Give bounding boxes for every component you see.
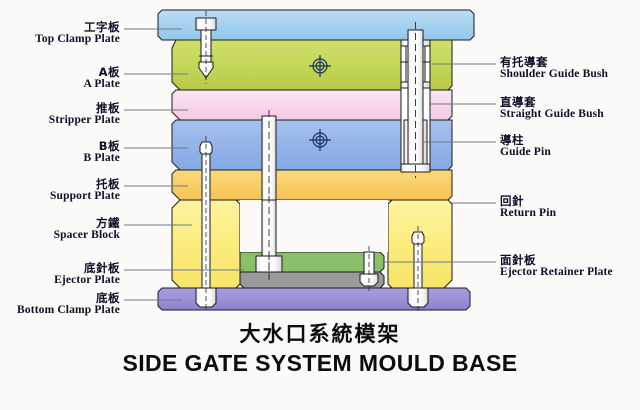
label-en: Top Clamp Plate [35, 33, 120, 45]
label-guide-pin: 導柱 Guide Pin [500, 134, 551, 159]
label-a-plate: A板 A Plate [84, 66, 121, 91]
plate-support-plate [172, 170, 452, 200]
label-cn: 工字板 [35, 21, 120, 33]
label-stripper-plate: 推板 Stripper Plate [49, 102, 120, 127]
label-cn: 底針板 [54, 262, 120, 274]
label-shoulder-guide-bush: 有托導套 Shoulder Guide Bush [500, 56, 608, 81]
label-cn: 面針板 [500, 254, 613, 266]
label-support-plate: 托板 Support Plate [50, 178, 120, 203]
label-cn: 直導套 [500, 96, 604, 108]
label-cn: 推板 [49, 102, 120, 114]
label-en: Bottom Clamp Plate [17, 304, 120, 316]
label-spacer-block: 方鐵 Spacer Block [54, 217, 120, 242]
diagram-page: 工字板 Top Clamp Plate A板 A Plate 推板 Stripp… [0, 0, 640, 410]
label-en: Spacer Block [54, 229, 120, 241]
label-straight-guide-bush: 直導套 Straight Guide Bush [500, 96, 604, 121]
label-cn: 有托導套 [500, 56, 608, 68]
label-en: Straight Guide Bush [500, 108, 604, 120]
label-cn: 托板 [50, 178, 120, 190]
title-chinese: 大水口系統模架 [0, 318, 640, 348]
label-cn: 導柱 [500, 134, 551, 146]
label-en: Stripper Plate [49, 114, 120, 126]
label-cn: 回針 [500, 195, 556, 207]
label-cn: 底板 [17, 292, 120, 304]
label-cn: 方鐵 [54, 217, 120, 229]
label-ejector-plate: 底針板 Ejector Plate [54, 262, 120, 287]
label-en: Ejector Retainer Plate [500, 266, 613, 278]
label-en: Shoulder Guide Bush [500, 68, 608, 80]
label-en: Guide Pin [500, 146, 551, 158]
diagram-title: 大水口系統模架 SIDE GATE SYSTEM MOULD BASE [0, 318, 640, 377]
label-en: Ejector Plate [54, 274, 120, 286]
label-en: B Plate [84, 152, 121, 164]
label-b-plate: B板 B Plate [84, 140, 121, 165]
label-en: Return Pin [500, 207, 556, 219]
label-top-clamp-plate: 工字板 Top Clamp Plate [35, 21, 120, 46]
label-en: A Plate [84, 78, 121, 90]
label-return-pin: 回針 Return Pin [500, 195, 556, 220]
label-en: Support Plate [50, 190, 120, 202]
label-cn: B板 [84, 140, 121, 152]
label-cn: A板 [84, 66, 121, 78]
title-english: SIDE GATE SYSTEM MOULD BASE [0, 350, 640, 377]
label-ejector-retainer-plate: 面針板 Ejector Retainer Plate [500, 254, 613, 279]
label-bottom-clamp-plate: 底板 Bottom Clamp Plate [17, 292, 120, 317]
